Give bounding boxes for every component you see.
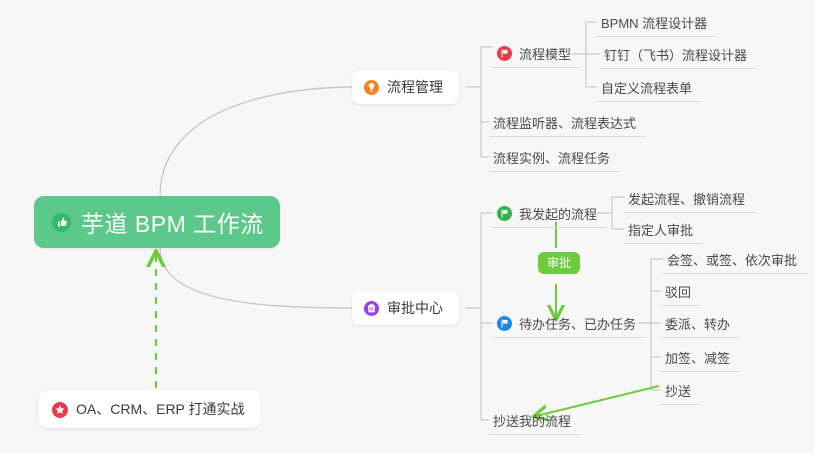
star-icon [52, 402, 67, 417]
branch-process-management[interactable]: 流程管理 [352, 70, 459, 104]
leaf-process-model-label: 流程模型 [519, 44, 571, 63]
leaf-reject[interactable]: 驳回 [661, 280, 701, 306]
note-card-label: OA、CRM、ERP 打通实战 [76, 399, 245, 419]
leaf-cc-to-me-process[interactable]: 抄送我的流程 [489, 409, 581, 435]
branch-process-management-label: 流程管理 [387, 77, 443, 97]
leaf-todo-done-task[interactable]: 待办任务、已办任务 [493, 312, 646, 338]
leaf-bpmn-designer[interactable]: BPMN 流程设计器 [597, 11, 717, 37]
leaf-cc[interactable]: 抄送 [661, 379, 701, 405]
branch-approval-center-label: 审批中心 [387, 298, 443, 318]
leaf-delegate-transfer[interactable]: 委派、转办 [661, 312, 740, 338]
flag-icon [497, 206, 512, 221]
leaf-dingtalk-designer[interactable]: 钉钉（飞书）流程设计器 [600, 43, 757, 69]
leaf-multi-sign[interactable]: 会签、或签、依次审批 [663, 248, 807, 274]
leaf-add-remove-sign[interactable]: 加签、减签 [661, 346, 740, 372]
clipboard-icon [364, 301, 379, 316]
leaf-start-cancel-process[interactable]: 发起流程、撤销流程 [624, 187, 755, 213]
connector-root-to-process [160, 87, 352, 196]
connector-root-to-approval [160, 248, 352, 308]
lightbulb-icon [364, 80, 379, 95]
thumbs-up-icon [52, 213, 71, 232]
mindmap-canvas: 芋道 BPM 工作流 流程管理 流程模型 流程监听器、流程表达式 流程实例、流程 [0, 0, 814, 453]
note-card-integration[interactable]: OA、CRM、ERP 打通实战 [38, 390, 261, 428]
root-node[interactable]: 芋道 BPM 工作流 [34, 196, 280, 248]
leaf-process-listener[interactable]: 流程监听器、流程表达式 [489, 111, 646, 137]
leaf-my-started-process[interactable]: 我发起的流程 [493, 202, 607, 228]
branch-approval-center[interactable]: 审批中心 [352, 291, 459, 325]
root-node-label: 芋道 BPM 工作流 [81, 205, 264, 239]
arrow-label-approve: 审批 [538, 252, 580, 274]
flag-icon [497, 46, 512, 61]
leaf-process-instance[interactable]: 流程实例、流程任务 [489, 146, 620, 172]
leaf-custom-form[interactable]: 自定义流程表单 [597, 76, 702, 102]
flag-icon [497, 316, 512, 331]
leaf-process-model[interactable]: 流程模型 [493, 42, 581, 68]
leaf-assignee-approval[interactable]: 指定人审批 [624, 218, 703, 244]
